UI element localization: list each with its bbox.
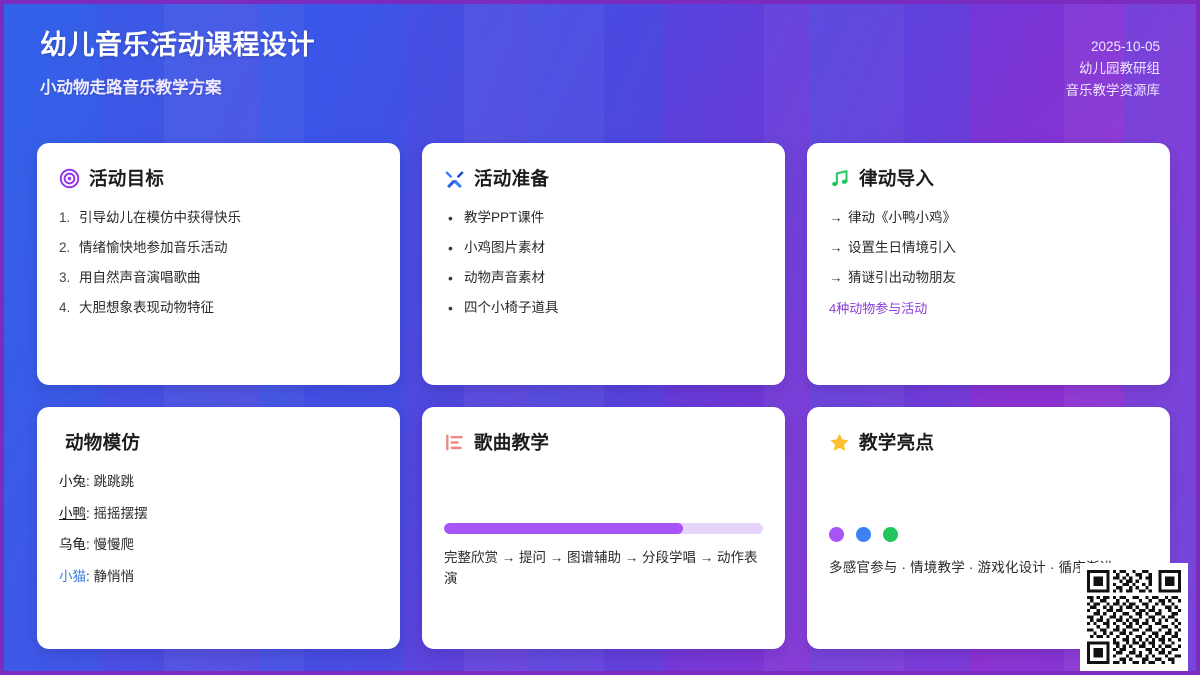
slide-canvas: 幼儿音乐活动课程设计 小动物走路音乐教学方案 2025-10-05 幼儿园教研组…: [0, 0, 1200, 675]
highlight-dot-2: [856, 527, 871, 542]
preparation-list: 教学PPT课件 小鸡图片素材 动物声音素材 四个小椅子道具: [444, 208, 763, 318]
animal-label: 乌龟: [59, 537, 86, 552]
header-org: 幼儿园教研组: [1066, 58, 1161, 80]
progress-bar-fill: [444, 523, 683, 534]
card-title: 活动目标: [89, 165, 164, 191]
animal-action: 静悄悄: [94, 569, 135, 584]
card-activity-preparation[interactable]: 活动准备 教学PPT课件 小鸡图片素材 动物声音素材 四个小椅子道具: [422, 143, 785, 385]
list-item: 律动《小鸭小鸡》: [829, 208, 1148, 228]
list-item: 小鸭: 摇摇摆摆: [59, 504, 378, 524]
page-subtitle: 小动物走路音乐教学方案: [40, 74, 315, 98]
animal-list: 小兔: 跳跳跳 小鸭: 摇摇摆摆 乌龟: 慢慢爬 小猫: 静悄悄: [59, 472, 378, 586]
qr-code[interactable]: [1080, 563, 1188, 671]
goals-list: 引导幼儿在模仿中获得快乐 情绪愉快地参加音乐活动 用自然声音演唱歌曲 大胆想象表…: [59, 208, 378, 318]
target-icon: [59, 168, 80, 189]
header-date: 2025-10-05: [1066, 36, 1161, 58]
animal-action: 摇摇摆摆: [94, 506, 148, 521]
list-item: 大胆想象表现动物特征: [59, 298, 378, 318]
card-header: 活动目标: [59, 165, 378, 191]
music-note-icon: [829, 168, 850, 189]
card-header: 动物模仿: [59, 429, 378, 455]
tools-icon: [444, 168, 465, 189]
list-item: 用自然声音演唱歌曲: [59, 268, 378, 288]
card-activity-goals[interactable]: 活动目标 引导幼儿在模仿中获得快乐 情绪愉快地参加音乐活动 用自然声音演唱歌曲 …: [37, 143, 400, 385]
header-meta: 2025-10-05 幼儿园教研组 音乐教学资源库: [1066, 28, 1161, 102]
header-left: 幼儿音乐活动课程设计 小动物走路音乐教学方案: [40, 28, 315, 98]
animal-action: 慢慢爬: [94, 537, 135, 552]
list-item: 动物声音素材: [444, 268, 763, 288]
list-item: 引导幼儿在模仿中获得快乐: [59, 208, 378, 228]
card-title: 律动导入: [859, 165, 934, 191]
card-header: 歌曲教学: [444, 429, 763, 455]
progress-section: 完整欣赏 → 提问 → 图谱辅助 → 分段学唱 → 动作表演: [444, 523, 763, 590]
star-icon: [829, 432, 850, 453]
header-source: 音乐教学资源库: [1066, 80, 1161, 102]
list-item: 四个小椅子道具: [444, 298, 763, 318]
rhythm-steps-list: 律动《小鸭小鸡》 设置生日情境引入 猜谜引出动物朋友: [829, 208, 1148, 288]
card-title: 活动准备: [474, 165, 549, 191]
list-item: 设置生日情境引入: [829, 238, 1148, 258]
card-header: 活动准备: [444, 165, 763, 191]
animal-label-link[interactable]: 小猫: [59, 569, 86, 584]
card-header: 教学亮点: [829, 429, 1148, 455]
page-title: 幼儿音乐活动课程设计: [40, 28, 315, 63]
list-item[interactable]: 小猫: 静悄悄: [59, 567, 378, 587]
list-item: 小鸡图片素材: [444, 238, 763, 258]
animal-label: 小鸭: [59, 506, 86, 521]
rhythm-note: 4种动物参与活动: [829, 298, 1148, 317]
list-item: 教学PPT课件: [444, 208, 763, 228]
card-grid: 活动目标 引导幼儿在模仿中获得快乐 情绪愉快地参加音乐活动 用自然声音演唱歌曲 …: [37, 143, 1172, 649]
card-header: 律动导入: [829, 165, 1148, 191]
list-item: 猜谜引出动物朋友: [829, 268, 1148, 288]
progress-bar-track[interactable]: [444, 523, 763, 534]
card-title: 动物模仿: [65, 429, 140, 455]
qr-code-image: [1087, 570, 1181, 664]
list-item: 情绪愉快地参加音乐活动: [59, 238, 378, 258]
highlight-dot-3: [883, 527, 898, 542]
list-item: 小兔: 跳跳跳: [59, 472, 378, 492]
card-animal-imitation[interactable]: 动物模仿 小兔: 跳跳跳 小鸭: 摇摇摆摆 乌龟: 慢慢爬 小猫: 静悄悄: [37, 407, 400, 649]
teaching-flow-text: 完整欣赏 → 提问 → 图谱辅助 → 分段学唱 → 动作表演: [444, 548, 763, 590]
card-title: 教学亮点: [859, 429, 934, 455]
highlight-dots: [829, 527, 1148, 542]
animal-label: 小兔: [59, 474, 86, 489]
card-title: 歌曲教学: [474, 429, 549, 455]
slide-header: 幼儿音乐活动课程设计 小动物走路音乐教学方案 2025-10-05 幼儿园教研组…: [4, 4, 1196, 134]
bar-chart-icon: [444, 432, 465, 453]
highlight-dot-1: [829, 527, 844, 542]
card-rhythm-intro[interactable]: 律动导入 律动《小鸭小鸡》 设置生日情境引入 猜谜引出动物朋友 4种动物参与活动: [807, 143, 1170, 385]
list-item: 乌龟: 慢慢爬: [59, 535, 378, 555]
card-song-teaching[interactable]: 歌曲教学 完整欣赏 → 提问 → 图谱辅助 → 分段学唱 → 动作表演: [422, 407, 785, 649]
animal-action: 跳跳跳: [94, 474, 135, 489]
